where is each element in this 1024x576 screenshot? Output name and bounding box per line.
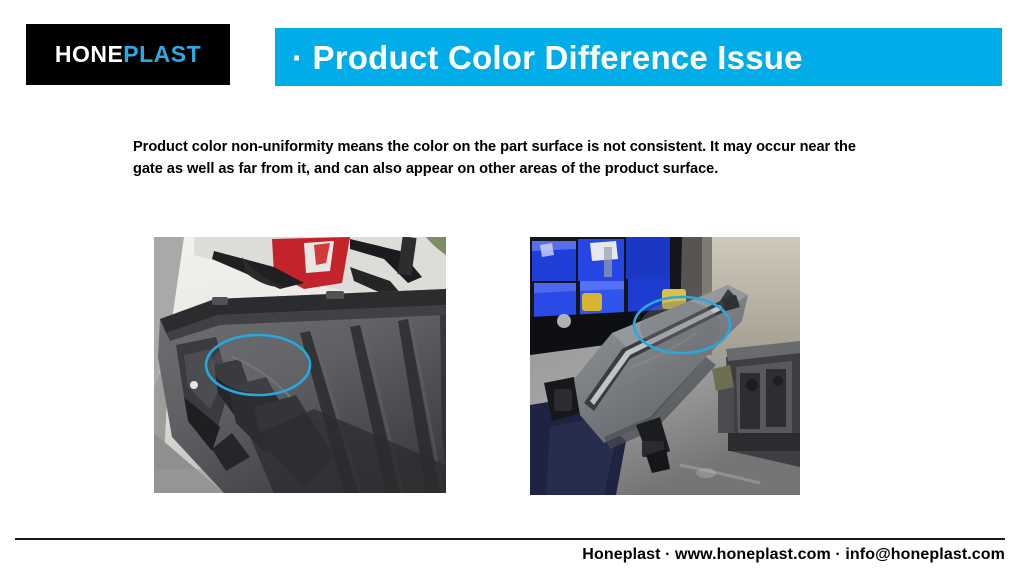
photo-right-graphic — [530, 237, 800, 495]
slide-root: { "slide": { "background_color": "#fffff… — [0, 0, 1024, 576]
logo-wordmark: HONEPLAST — [55, 43, 201, 66]
photo-left-graphic — [154, 237, 446, 493]
photo-right-molded-part — [530, 237, 800, 495]
description-paragraph: Product color non-uniformity means the c… — [133, 136, 875, 181]
page-title: · Product Color Difference Issue — [275, 41, 803, 74]
logo-text-plast: PLAST — [123, 41, 201, 67]
footer-divider — [15, 538, 1005, 540]
photo-left-bumper-part — [154, 237, 446, 493]
honeplast-logo: HONEPLAST — [26, 24, 230, 85]
title-banner: · Product Color Difference Issue — [275, 28, 1002, 86]
footer-contact: Honeplast · www.honeplast.com · info@hon… — [0, 546, 1005, 564]
logo-text-hone: HONE — [55, 41, 123, 67]
